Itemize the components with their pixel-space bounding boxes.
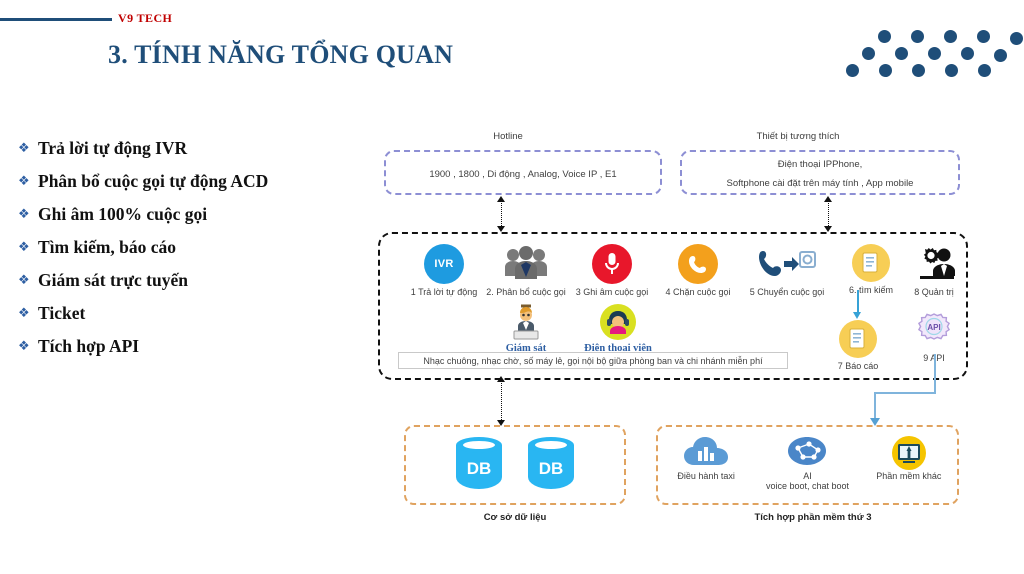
database-cylinder-icon: DB <box>528 437 574 493</box>
supervisor-icon <box>488 304 564 340</box>
core-feature-strip: Nhạc chuông, nhạc chờ, số máy lẻ, gọi nộ… <box>398 352 788 369</box>
microphone-record-icon <box>592 244 632 284</box>
core-item-label: 6. tìm kiếm <box>836 285 906 295</box>
list-item-label: Ghi âm 100% cuộc gọi <box>38 204 207 224</box>
devices-line2: Softphone cài đặt trên máy tính , App mo… <box>682 178 958 189</box>
core-subitem-agent[interactable]: Điện thoại viên <box>573 304 663 354</box>
list-item-label: Phân bổ cuộc gọi tự động ACD <box>38 171 268 191</box>
devices-line1: Điện thoại IPPhone, <box>682 159 958 170</box>
list-item: ❖ Phân bổ cuộc gọi tự động ACD <box>18 171 348 191</box>
admin-gear-person-icon <box>900 242 968 284</box>
devices-box: Điện thoại IPPhone, Softphone cài đặt tr… <box>680 150 960 195</box>
database-caption: Cơ sở dữ liệu <box>455 512 575 523</box>
core-item-label: 4 Chặn cuộc gọi <box>656 287 740 297</box>
thirdparty-item-sublabel: voice boot, chat boot <box>754 481 860 491</box>
list-item: ❖ Giám sát trực tuyến <box>18 270 348 290</box>
thirdparty-caption: Tích hợp phần mềm thứ 3 <box>728 512 898 523</box>
api-connector-horizontal <box>874 392 936 394</box>
thirdparty-item-other[interactable]: Phần mềm khác <box>861 435 957 481</box>
bullet-diamond-icon: ❖ <box>18 336 38 356</box>
api-gear-icon: API <box>900 312 968 350</box>
brand-label: V9 TECH <box>118 11 172 26</box>
database-cylinder-icon: DB <box>456 437 502 493</box>
hotline-arrow-up-icon <box>497 196 505 202</box>
api-connector-vertical <box>934 354 936 394</box>
list-item: ❖ Tìm kiếm, báo cáo <box>18 237 348 257</box>
list-item: ❖ Ghi âm 100% cuộc gọi <box>18 204 348 224</box>
thirdparty-item-taxi[interactable]: Điều hành taxi <box>658 435 754 481</box>
core-db-connector <box>501 380 502 424</box>
core-item-search[interactable]: 6. tìm kiếm <box>836 244 906 295</box>
people-group-icon <box>480 244 572 284</box>
database-label: DB <box>456 459 502 479</box>
core-item-label: 8 Quản trị <box>900 287 968 297</box>
page-title: 3. TÍNH NĂNG TỔNG QUAN <box>108 40 453 70</box>
core-item-label: 7 Báo cáo <box>823 361 893 371</box>
core-item-acd[interactable]: 2. Phân bổ cuộc gọi <box>480 244 572 297</box>
list-item-label: Tìm kiếm, báo cáo <box>38 237 176 257</box>
hotline-caption: Hotline <box>458 131 558 142</box>
hotline-content: 1900 , 1800 , Di động , Analog, Voice IP… <box>386 169 660 180</box>
agent-headset-icon <box>600 304 636 340</box>
cloud-chart-icon <box>658 435 754 471</box>
bullet-diamond-icon: ❖ <box>18 237 38 257</box>
ivr-circle-icon: IVR <box>424 244 464 284</box>
list-item-label: Giám sát trực tuyến <box>38 270 188 290</box>
thirdparty-item-label: Phần mềm khác <box>861 471 957 481</box>
other-software-icon <box>861 435 957 471</box>
core-item-label: 5 Chuyển cuộc gọi <box>740 287 834 297</box>
document-search-icon <box>852 244 890 282</box>
header-rule <box>0 18 112 21</box>
core-item-ivr[interactable]: IVR 1 Trả lời tự động <box>403 244 485 297</box>
ai-brain-icon <box>754 435 860 471</box>
core-item-label: 2. Phân bổ cuộc gọi <box>480 287 572 297</box>
architecture-diagram: Hotline 1900 , 1800 , Di động , Analog, … <box>368 122 1008 542</box>
bullet-diamond-icon: ❖ <box>18 204 38 224</box>
thirdparty-item-label: Điều hành taxi <box>658 471 754 481</box>
ivr-badge: IVR <box>434 258 453 270</box>
devices-arrow-up-icon <box>824 196 832 202</box>
core-item-report[interactable]: 7 Báo cáo <box>823 320 893 371</box>
hotline-box: 1900 , 1800 , Di động , Analog, Voice IP… <box>384 150 662 195</box>
list-item: ❖ Trả lời tự động IVR <box>18 138 348 158</box>
search-to-report-line <box>857 290 859 314</box>
report-document-icon <box>839 320 877 358</box>
svg-text:API: API <box>927 323 940 332</box>
list-item: ❖ Ticket <box>18 303 348 323</box>
core-item-label: 1 Trả lời tự động <box>403 287 485 297</box>
bullet-diamond-icon: ❖ <box>18 270 38 290</box>
call-transfer-icon <box>740 244 834 284</box>
bullet-diamond-icon: ❖ <box>18 138 38 158</box>
core-db-arrow-up-icon <box>497 376 505 382</box>
devices-caption: Thiết bị tương thích <box>708 131 888 142</box>
database-label: DB <box>528 459 574 479</box>
call-block-icon <box>678 244 718 284</box>
core-item-block[interactable]: 4 Chặn cuộc gọi <box>656 244 740 297</box>
list-item-label: Ticket <box>38 303 85 323</box>
bullet-diamond-icon: ❖ <box>18 303 38 323</box>
core-item-transfer[interactable]: 5 Chuyển cuộc gọi <box>740 244 834 297</box>
thirdparty-item-label: AI <box>754 471 860 481</box>
list-item: ❖ Tích hợp API <box>18 336 348 356</box>
thirdparty-item-ai[interactable]: AI voice boot, chat boot <box>754 435 860 491</box>
database-box: DB DB <box>404 425 626 505</box>
core-subitem-supervisor[interactable]: Giám sát <box>488 304 564 354</box>
core-item-label: 3 Ghi âm cuộc gọi <box>568 287 656 297</box>
bullet-diamond-icon: ❖ <box>18 171 38 191</box>
list-item-label: Tích hợp API <box>38 336 139 356</box>
search-to-report-arrow-icon <box>853 312 861 319</box>
core-item-recording[interactable]: 3 Ghi âm cuộc gọi <box>568 244 656 297</box>
list-item-label: Trả lời tự động IVR <box>38 138 187 158</box>
api-connector-drop <box>874 392 876 420</box>
dot-grid-logo <box>838 28 1024 90</box>
thirdparty-box: Điều hành taxi AI voice boot, chat boot … <box>656 425 959 505</box>
feature-list: ❖ Trả lời tự động IVR ❖ Phân bổ cuộc gọi… <box>18 138 348 369</box>
core-item-admin[interactable]: 8 Quản trị <box>900 242 968 297</box>
